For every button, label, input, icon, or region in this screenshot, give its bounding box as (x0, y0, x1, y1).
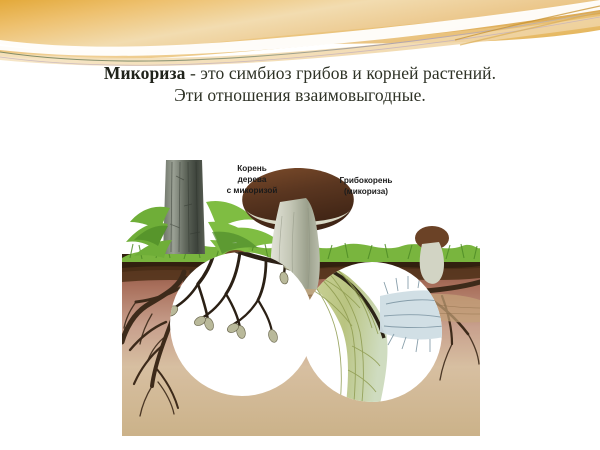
title-line-2: Эти отношения взаимовыгодные. (0, 84, 600, 106)
title-term: Микориза (104, 63, 186, 83)
mycorrhiza-illustration: Корень дерева с микоризой Грибокорень (м… (122, 146, 480, 436)
mushroom-small-right-stem (420, 242, 444, 284)
page-title: Микориза - это симбиоз грибов и корней р… (0, 62, 600, 107)
trunk-body (163, 160, 205, 254)
swoosh-band-cream (0, 16, 600, 66)
mycorrhiza-diagram-graphic (122, 146, 480, 436)
magnifier-circle-root-bg (170, 252, 314, 396)
title-line-1: Микориза - это симбиоз грибов и корней р… (0, 62, 600, 84)
slide: Микориза - это симбиоз грибов и корней р… (0, 0, 600, 450)
swoosh-band-secondary (0, 2, 600, 59)
swoosh-white-sweep (0, 0, 600, 56)
swoosh-accent-stroke-1 (455, 6, 600, 40)
tree-trunk (163, 160, 205, 254)
swoosh-accent-stroke-2 (460, 12, 600, 45)
swoosh-hairline-olive (0, 12, 600, 61)
title-line-1-rest: - это симбиоз грибов и корней растений. (185, 63, 496, 83)
swoosh-band-primary (0, 0, 600, 55)
swoosh-hairline-mauve (0, 17, 600, 65)
